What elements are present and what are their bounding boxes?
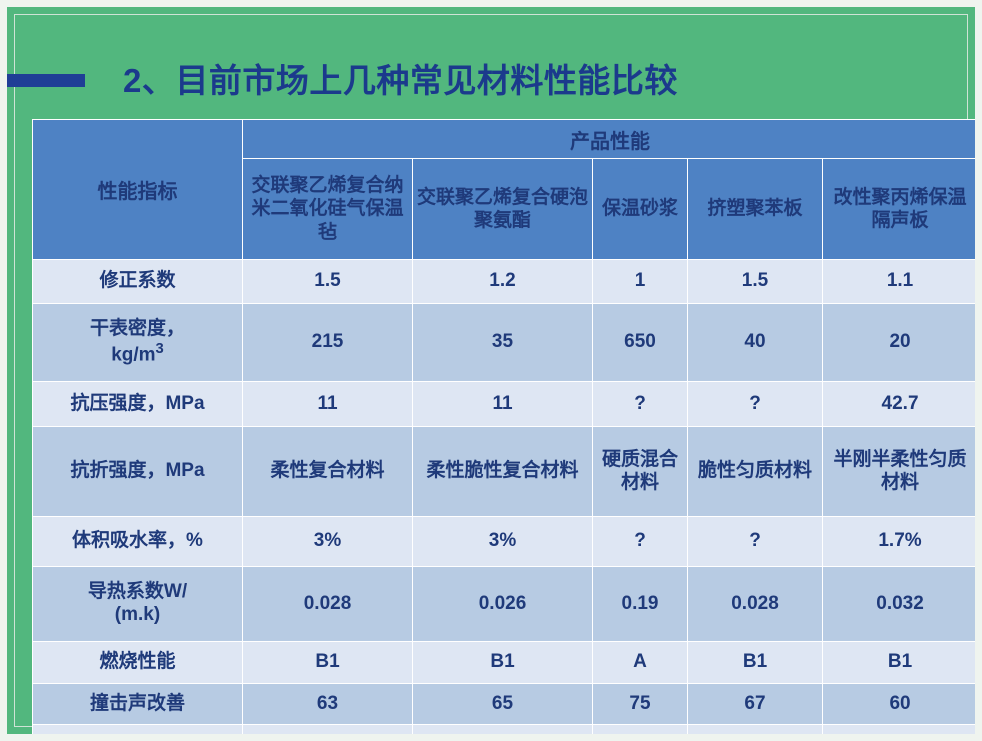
header-column-1: 交联聚乙烯复合纳米二氧化硅气保温毡 [243, 159, 413, 260]
row-metric-label: 修正系数 [33, 260, 243, 304]
table-cell: 1.1 [823, 260, 978, 304]
table-header-group-row: 性能指标 产品性能 [33, 120, 978, 159]
table-cell: 11 [413, 382, 593, 427]
table-cell: 半刚半柔性匀质材料 [823, 427, 978, 517]
table-cell: 0.19 [593, 567, 688, 642]
table-row: 干表密度，kg/m3215356504020 [33, 304, 978, 382]
table-cell: ? [593, 517, 688, 567]
header-column-2: 交联聚乙烯复合硬泡聚氨酯 [413, 159, 593, 260]
table-row: 修正系数1.51.211.51.1 [33, 260, 978, 304]
table-cell: ? [593, 382, 688, 427]
table-cell: 40 [688, 304, 823, 382]
row-metric-label: 抗压强度，MPa [33, 382, 243, 427]
table-cell: 75 [593, 684, 688, 725]
title-accent-bar [7, 74, 85, 87]
table-cell: 60 [823, 684, 978, 725]
table-cell: 1.7% [823, 517, 978, 567]
row-metric-label: 撞击声改善 [33, 684, 243, 725]
material-comparison-table: 性能指标 产品性能 交联聚乙烯复合纳米二氧化硅气保温毡 交联聚乙烯复合硬泡聚氨酯… [32, 119, 978, 741]
table-cell: 3% [413, 517, 593, 567]
table-cell: 优异 [823, 725, 978, 741]
header-column-5: 改性聚丙烯保温隔声板 [823, 159, 978, 260]
table-cell: 0.028 [688, 567, 823, 642]
table-cell: 67 [688, 684, 823, 725]
table-cell: 0.026 [413, 567, 593, 642]
table-row: 抗压强度，MPa1111??42.7 [33, 382, 978, 427]
table-cell: B1 [688, 642, 823, 684]
table-cell: B1 [413, 642, 593, 684]
table-cell: 硬质混合材料 [593, 427, 688, 517]
table-cell: ? [688, 517, 823, 567]
table-cell: 650 [593, 304, 688, 382]
header-column-4: 挤塑聚苯板 [688, 159, 823, 260]
table-row: 抗折强度，MPa柔性复合材料柔性脆性复合材料硬质混合材料脆性匀质材料半刚半柔性匀… [33, 427, 978, 517]
table-cell: 63 [243, 684, 413, 725]
table-cell: 0.032 [823, 567, 978, 642]
table-cell: 柔性复合材料 [243, 427, 413, 517]
slide-title-row: 2、目前市场上几种常见材料性能比较 [7, 57, 982, 103]
table-cell: ? [688, 382, 823, 427]
table-row: 恢复形变能力差差无无优异 [33, 725, 978, 741]
header-column-3: 保温砂浆 [593, 159, 688, 260]
table-cell: 1 [593, 260, 688, 304]
table-cell: 差 [243, 725, 413, 741]
table-cell: 无 [688, 725, 823, 741]
table-cell: 215 [243, 304, 413, 382]
table-cell: 20 [823, 304, 978, 382]
page-title: 2、目前市场上几种常见材料性能比较 [123, 64, 678, 97]
row-metric-label: 导热系数W/(m.k) [33, 567, 243, 642]
table-row: 导热系数W/(m.k)0.0280.0260.190.0280.032 [33, 567, 978, 642]
table-cell: 无 [593, 725, 688, 741]
row-metric-label: 恢复形变能力 [33, 725, 243, 741]
table-row: 燃烧性能B1B1AB1B1 [33, 642, 978, 684]
table-cell: 1.5 [243, 260, 413, 304]
table-row: 撞击声改善6365756760 [33, 684, 978, 725]
row-metric-label: 燃烧性能 [33, 642, 243, 684]
table-cell: 65 [413, 684, 593, 725]
table-cell: 35 [413, 304, 593, 382]
table-cell: B1 [243, 642, 413, 684]
table-cell: 3% [243, 517, 413, 567]
table-cell: 0.028 [243, 567, 413, 642]
table-cell: 1.5 [688, 260, 823, 304]
table-cell: 脆性匀质材料 [688, 427, 823, 517]
row-metric-label: 干表密度，kg/m3 [33, 304, 243, 382]
table-cell: A [593, 642, 688, 684]
row-metric-label: 体积吸水率，% [33, 517, 243, 567]
slide: 2、目前市场上几种常见材料性能比较 性能指标 产品性能 交联聚乙烯复合纳米二氧化… [0, 0, 982, 741]
header-group-label: 产品性能 [243, 120, 978, 159]
table-cell: 42.7 [823, 382, 978, 427]
table-cell: 差 [413, 725, 593, 741]
table-row: 体积吸水率，%3%3%??1.7% [33, 517, 978, 567]
table-cell: B1 [823, 642, 978, 684]
table-body: 修正系数1.51.211.51.1干表密度，kg/m3215356504020抗… [33, 260, 978, 741]
table-cell: 柔性脆性复合材料 [413, 427, 593, 517]
row-metric-label: 抗折强度，MPa [33, 427, 243, 517]
table-header: 性能指标 产品性能 交联聚乙烯复合纳米二氧化硅气保温毡 交联聚乙烯复合硬泡聚氨酯… [33, 120, 978, 260]
table-cell: 11 [243, 382, 413, 427]
table-cell: 1.2 [413, 260, 593, 304]
header-metric-label: 性能指标 [33, 120, 243, 260]
comparison-table-wrapper: 性能指标 产品性能 交联聚乙烯复合纳米二氧化硅气保温毡 交联聚乙烯复合硬泡聚氨酯… [32, 119, 977, 729]
